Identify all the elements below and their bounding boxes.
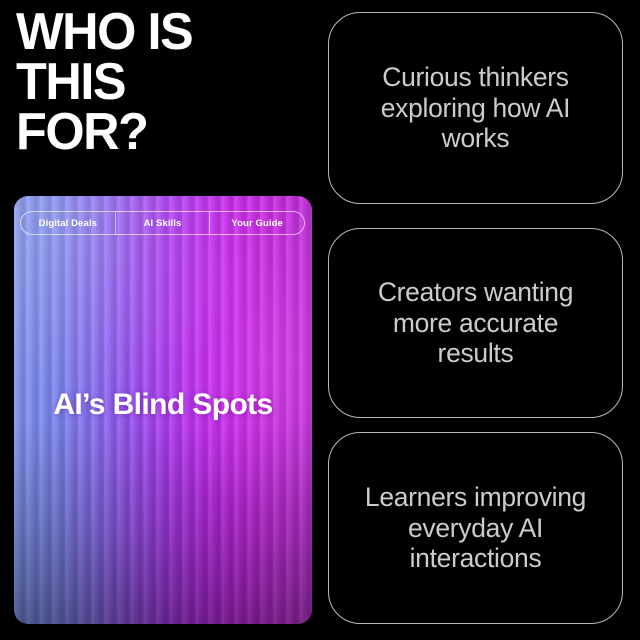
- audience-card-text: Learners improving everyday AI interacti…: [352, 482, 600, 574]
- segmented-tab-bar[interactable]: Digital Deals AI Skills Your Guide: [20, 211, 305, 235]
- tab-ai-skills[interactable]: AI Skills: [115, 212, 210, 234]
- audience-card[interactable]: Learners improving everyday AI interacti…: [328, 432, 623, 624]
- audience-card[interactable]: Curious thinkers exploring how AI works: [328, 12, 623, 204]
- tab-digital-deals[interactable]: Digital Deals: [21, 212, 115, 234]
- promo-card-title: AI’s Blind Spots: [14, 388, 312, 422]
- page-title: WHO IS THIS FOR?: [16, 8, 307, 158]
- audience-card-text: Curious thinkers exploring how AI works: [352, 62, 600, 154]
- audience-card-text: Creators wanting more accurate results: [352, 277, 600, 369]
- tab-your-guide[interactable]: Your Guide: [209, 212, 304, 234]
- audience-card[interactable]: Creators wanting more accurate results: [328, 228, 623, 418]
- slide-canvas: WHO IS THIS FOR? Digital Deals AI Skills…: [0, 0, 640, 640]
